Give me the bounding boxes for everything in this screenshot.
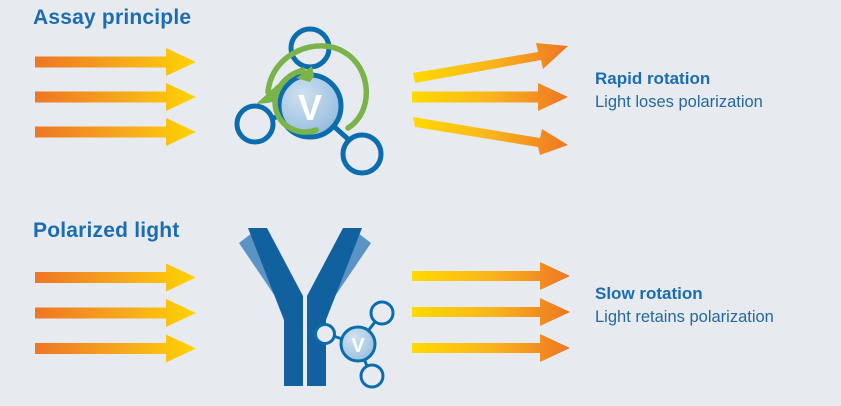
assay-principle-panel: Assay principle Rapid rotation Light los… bbox=[0, 0, 841, 200]
assay-principle-figure: V bbox=[0, 0, 841, 406]
polarized-light-panel: Polarized light Slow rotation Light reta… bbox=[0, 200, 841, 406]
section-heading-assay-principle: Assay principle bbox=[33, 6, 191, 30]
section-heading-polarized-light: Polarized light bbox=[33, 219, 180, 243]
result-subtitle: Light loses polarization bbox=[595, 90, 763, 114]
result-label-slow-rotation: Slow rotation Light retains polarization bbox=[595, 283, 774, 329]
result-label-rapid-rotation: Rapid rotation Light loses polarization bbox=[595, 68, 763, 114]
result-title: Slow rotation bbox=[595, 283, 774, 305]
result-subtitle: Light retains polarization bbox=[595, 305, 774, 329]
result-title: Rapid rotation bbox=[595, 68, 763, 90]
